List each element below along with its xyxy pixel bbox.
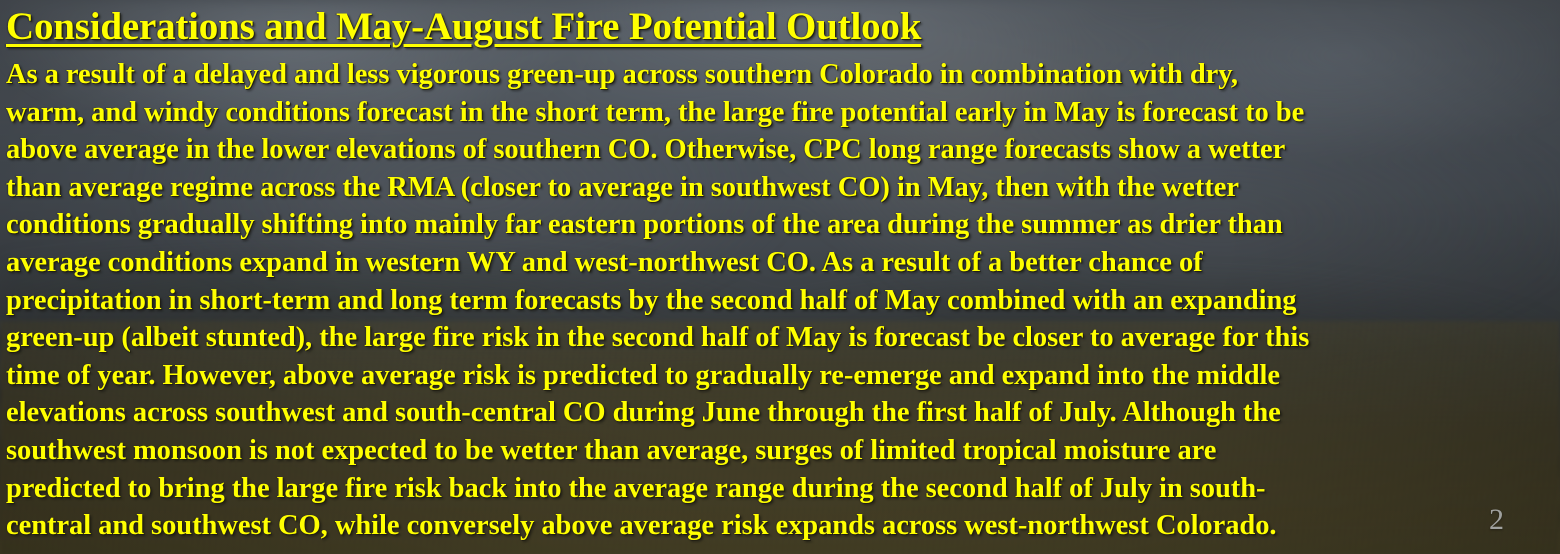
body-line: As a result of a delayed and less vigoro… [6, 56, 1554, 94]
body-line: warm, and windy conditions forecast in t… [6, 94, 1554, 132]
body-line: above average in the lower elevations of… [6, 131, 1554, 169]
body-line: average conditions expand in western WY … [6, 244, 1554, 282]
body-line: than average regime across the RMA (clos… [6, 169, 1554, 207]
slide-body-text: As a result of a delayed and less vigoro… [6, 56, 1554, 545]
body-line: conditions gradually shifting into mainl… [6, 206, 1554, 244]
body-line: time of year. However, above average ris… [6, 357, 1554, 395]
slide-title: Considerations and May-August Fire Poten… [6, 4, 921, 50]
body-line: green-up (albeit stunted), the large fir… [6, 319, 1554, 357]
slide-page-number: 2 [1489, 505, 1504, 535]
presentation-slide: Considerations and May-August Fire Poten… [0, 0, 1560, 554]
body-line: central and southwest CO, while converse… [6, 507, 1554, 545]
body-line: precipitation in short-term and long ter… [6, 282, 1554, 320]
body-line: elevations across southwest and south-ce… [6, 394, 1554, 432]
body-line: southwest monsoon is not expected to be … [6, 432, 1554, 470]
body-line: predicted to bring the large fire risk b… [6, 470, 1554, 508]
